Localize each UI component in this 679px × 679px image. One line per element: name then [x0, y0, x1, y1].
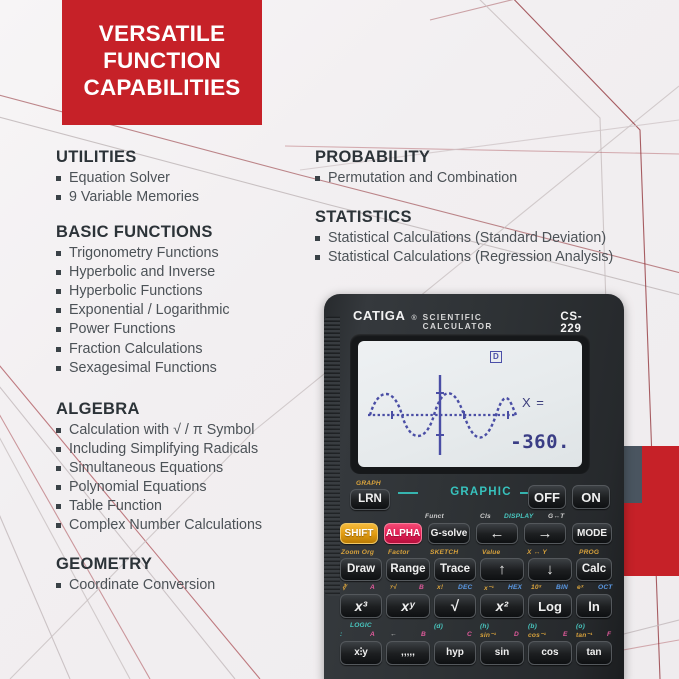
lcd-value: -360.: [510, 431, 570, 453]
brand-subtitle: SCIENTIFIC CALCULATOR: [423, 313, 555, 331]
key-secondary-label-logic: LOGIC: [350, 622, 372, 629]
list-item-label: Hyperbolic Functions: [69, 283, 203, 299]
key-hyp[interactable]: hyp: [434, 641, 476, 665]
key-x-squared[interactable]: x²: [480, 594, 524, 618]
section-heading: PROBABILITY: [315, 148, 675, 167]
feature-column-left: UTILITIES Equation Solver 9 Variable Mem…: [56, 148, 321, 611]
key-lrn[interactable]: LRN: [350, 489, 390, 510]
key-ln[interactable]: ln: [576, 594, 612, 618]
list-item: Exponential / Logarithmic: [56, 301, 321, 320]
list-item: Equation Solver: [56, 169, 321, 188]
bullet-icon: [56, 504, 61, 509]
key-secondary-label-h: (h): [480, 623, 489, 630]
key-secondary-label-prog: PROG: [579, 549, 599, 556]
list-item-label: Statistical Calculations (Standard Devia…: [328, 230, 606, 246]
list-item-label: Including Simplifying Radicals: [69, 441, 258, 457]
list-item: 9 Variable Memories: [56, 188, 321, 207]
feature-list: Permutation and Combination: [315, 169, 675, 188]
key-draw[interactable]: Draw: [340, 558, 382, 581]
list-item-label: Table Function: [69, 498, 162, 514]
feature-list: Equation Solver 9 Variable Memories: [56, 169, 321, 207]
list-item: Polynomial Equations: [56, 478, 321, 497]
key-secondary-label-asin: sin⁻¹: [480, 631, 496, 639]
key-base-label-bin: BIN: [556, 584, 568, 591]
lcd-bezel: D X = -360.: [350, 334, 590, 474]
section-heading: BASIC FUNCTIONS: [56, 223, 321, 242]
brand-model-number: CS-229: [560, 311, 603, 335]
banner-title-line1: VERSATILE: [84, 20, 241, 47]
bullet-icon: [56, 308, 61, 313]
list-item-label: Coordinate Conversion: [69, 577, 215, 593]
lcd-screen: D X = -360.: [358, 341, 582, 467]
key-mode[interactable]: MODE: [572, 523, 612, 544]
feature-section-statistics: STATISTICS Statistical Calculations (Sta…: [315, 208, 675, 267]
key-secondary-label-b: (b): [528, 623, 537, 630]
key-secondary-label-zoom-org: Zoom Org: [341, 549, 374, 556]
list-item: Fraction Calculations: [56, 340, 321, 359]
key-on[interactable]: ON: [572, 485, 610, 509]
key-secondary-label-funct: Funct: [425, 513, 444, 520]
key-alpha-label-a2: A: [370, 631, 375, 638]
key-secondary-label-colon: :: [340, 631, 342, 638]
banner-title: VERSATILE FUNCTION CAPABILITIES: [84, 20, 241, 102]
key-alpha-label-a: A: [370, 584, 375, 591]
calculator-product-image: CATIGA ® SCIENTIFIC CALCULATOR CS-229 D …: [324, 294, 624, 679]
key-log[interactable]: Log: [528, 594, 572, 618]
key-x-cubed[interactable]: x³: [340, 594, 382, 618]
section-heading: ALGEBRA: [56, 400, 321, 419]
list-item: Sexagesimal Functions: [56, 359, 321, 378]
keypad-row-graph-controls: Zoom Org Factor SKETCH Value X ↔ Y PROG …: [324, 556, 624, 586]
bullet-icon: [56, 447, 61, 452]
key-secondary-label-factorial: x!: [437, 584, 443, 591]
key-arrow-right[interactable]: →: [524, 523, 566, 544]
infographic-root: VERSATILE FUNCTION CAPABILITIES UTILITIE…: [0, 0, 679, 679]
list-item-label: Hyperbolic and Inverse: [69, 264, 215, 280]
list-item-label: Exponential / Logarithmic: [69, 302, 230, 318]
list-item: Calculation with √ / π Symbol: [56, 421, 321, 440]
list-item: Trigonometry Functions: [56, 244, 321, 263]
key-secondary-label-display: DISPLAY: [504, 513, 534, 520]
list-item-label: 9 Variable Memories: [69, 189, 199, 205]
bullet-icon: [56, 251, 61, 256]
key-off[interactable]: OFF: [528, 485, 566, 509]
key-range[interactable]: Range: [386, 558, 430, 581]
key-secondary-label-xy: X ↔ Y: [527, 549, 547, 556]
key-base-label-hex: HEX: [508, 584, 522, 591]
key-secondary-label-ten-pow: 10ˣ: [531, 584, 542, 591]
key-secondary-label-o: (o): [576, 623, 585, 630]
key-tan[interactable]: tan: [576, 641, 612, 665]
key-alpha[interactable]: ALPHA: [384, 523, 422, 544]
bullet-icon: [56, 428, 61, 433]
keypad-row-power: GRAPH LRN GRAPHIC OFF ON: [324, 480, 624, 510]
feature-list: Trigonometry Functions Hyperbolic and In…: [56, 244, 321, 378]
key-x-over-y[interactable]: x⫶y: [340, 641, 382, 665]
key-x-power-y[interactable]: xʸ: [386, 594, 430, 618]
bullet-icon: [56, 466, 61, 471]
graphic-rule-left: [398, 492, 418, 494]
bullet-icon: [56, 289, 61, 294]
key-alpha-label-f: F: [607, 631, 611, 638]
list-item-label: Power Functions: [69, 321, 175, 337]
key-g-solve[interactable]: G-solve: [428, 523, 470, 544]
key-secondary-label-factor: Factor: [388, 549, 409, 556]
feature-list: Calculation with √ / π Symbol Including …: [56, 421, 321, 535]
feature-column-right: PROBABILITY Permutation and Combination …: [315, 148, 675, 283]
list-item: Simultaneous Equations: [56, 459, 321, 478]
key-secondary-label-atan: tan⁻¹: [576, 631, 593, 639]
lcd-sine-graph: [368, 371, 518, 459]
header-banner: VERSATILE FUNCTION CAPABILITIES: [62, 0, 262, 125]
list-item: Power Functions: [56, 320, 321, 339]
bullet-icon: [56, 195, 61, 200]
key-base-label-oct: OCT: [598, 584, 613, 591]
bullet-icon: [56, 485, 61, 490]
key-secondary-label-e-pow: eˣ: [577, 584, 584, 591]
key-base-label-dec: DEC: [458, 584, 473, 591]
keypad-row-trig: LOGIC : A ← B (d) C (h) sin⁻¹ D (b) cos⁻…: [324, 628, 624, 679]
list-item: Hyperbolic and Inverse: [56, 263, 321, 282]
feature-section-probability: PROBABILITY Permutation and Combination: [315, 148, 675, 188]
keypad-row-modifiers: Funct Cls DISPLAY G↔T SHIFT ALPHA G-solv…: [324, 521, 624, 551]
key-secondary-label-value: Value: [482, 549, 500, 556]
list-item-label: Complex Number Calculations: [69, 517, 262, 533]
list-item-label: Trigonometry Functions: [69, 245, 219, 261]
calculator-branding: CATIGA ® SCIENTIFIC CALCULATOR CS-229: [353, 308, 603, 324]
bullet-icon: [56, 347, 61, 352]
key-secondary-label-cls: Cls: [480, 513, 491, 520]
lcd-mode-indicator: D: [490, 351, 502, 363]
calculator-keypad: GRAPH LRN GRAPHIC OFF ON Funct Cls DISPL…: [324, 480, 624, 679]
bullet-icon: [56, 327, 61, 332]
section-heading: UTILITIES: [56, 148, 321, 167]
key-trace[interactable]: Trace: [434, 558, 476, 581]
lcd-variable-label: X =: [522, 395, 545, 410]
list-item-label: Permutation and Combination: [328, 170, 517, 186]
bullet-icon: [56, 270, 61, 275]
bullet-icon: [56, 366, 61, 371]
key-arrow-left[interactable]: ←: [476, 523, 518, 544]
list-item: Hyperbolic Functions: [56, 282, 321, 301]
keypad-row-powers: ∛ A ʸ√ B x! DEC x⁻¹ HEX 10ˣ BIN eˣ OCT x…: [324, 592, 624, 622]
registered-trademark-icon: ®: [411, 315, 416, 322]
key-secondary-label-nthroot: ʸ√: [390, 584, 397, 591]
brand-name: CATIGA: [353, 308, 405, 323]
key-secondary-label-inverse: x⁻¹: [484, 584, 494, 592]
key-calc[interactable]: Calc: [576, 558, 612, 581]
list-item: Statistical Calculations (Standard Devia…: [315, 229, 675, 248]
list-item-label: Sexagesimal Functions: [69, 360, 217, 376]
key-square-root[interactable]: √: [434, 594, 476, 618]
key-alpha-label-b2: B: [421, 631, 426, 638]
feature-section-basic-functions: BASIC FUNCTIONS Trigonometry Functions H…: [56, 223, 321, 378]
key-alpha-label-b: B: [419, 584, 424, 591]
list-item-label: Polynomial Equations: [69, 479, 207, 495]
list-item: Table Function: [56, 497, 321, 516]
feature-list: Statistical Calculations (Standard Devia…: [315, 229, 675, 267]
list-item: Coordinate Conversion: [56, 576, 321, 595]
bullet-icon: [56, 523, 61, 528]
key-secondary-label-sketch: SKETCH: [430, 549, 458, 556]
key-secondary-label-arrow: ←: [390, 631, 397, 638]
key-shift[interactable]: SHIFT: [340, 523, 378, 544]
key-secondary-label-cuberoot: ∛: [342, 584, 346, 592]
bullet-icon: [315, 236, 320, 241]
key-cos[interactable]: cos: [528, 641, 572, 665]
list-item: Permutation and Combination: [315, 169, 675, 188]
key-alpha-label-d: D: [514, 631, 519, 638]
key-secondary-label-d: (d): [434, 623, 443, 630]
list-item-label: Simultaneous Equations: [69, 460, 223, 476]
key-alpha-label-c: C: [467, 631, 472, 638]
banner-title-line3: CAPABILITIES: [84, 74, 241, 101]
key-arrow-down[interactable]: ↓: [528, 558, 572, 581]
key-alpha-label-e: E: [563, 631, 568, 638]
key-secondary-label-graph: GRAPH: [356, 480, 381, 487]
feature-list: Coordinate Conversion: [56, 576, 321, 595]
list-item: Including Simplifying Radicals: [56, 440, 321, 459]
list-item: Complex Number Calculations: [56, 516, 321, 535]
bullet-icon: [56, 176, 61, 181]
key-secondary-label-acos: cos⁻¹: [528, 631, 546, 639]
banner-title-line2: FUNCTION: [84, 47, 241, 74]
bullet-icon: [315, 176, 320, 181]
feature-section-algebra: ALGEBRA Calculation with √ / π Symbol In…: [56, 400, 321, 535]
section-heading: GEOMETRY: [56, 555, 321, 574]
list-item: Statistical Calculations (Regression Ana…: [315, 248, 675, 267]
key-arrow-up[interactable]: ↑: [480, 558, 524, 581]
list-item-label: Calculation with √ / π Symbol: [69, 422, 254, 438]
list-item-label: Statistical Calculations (Regression Ana…: [328, 249, 613, 265]
feature-section-utilities: UTILITIES Equation Solver 9 Variable Mem…: [56, 148, 321, 207]
feature-section-geometry: GEOMETRY Coordinate Conversion: [56, 555, 321, 595]
key-sin[interactable]: sin: [480, 641, 524, 665]
list-item-label: Fraction Calculations: [69, 341, 203, 357]
key-secondary-label-gt: G↔T: [548, 513, 564, 520]
list-item-label: Equation Solver: [69, 170, 170, 186]
bullet-icon: [56, 583, 61, 588]
key-dms[interactable]: ,,,,,: [386, 641, 430, 665]
bullet-icon: [315, 255, 320, 260]
section-heading: STATISTICS: [315, 208, 675, 227]
